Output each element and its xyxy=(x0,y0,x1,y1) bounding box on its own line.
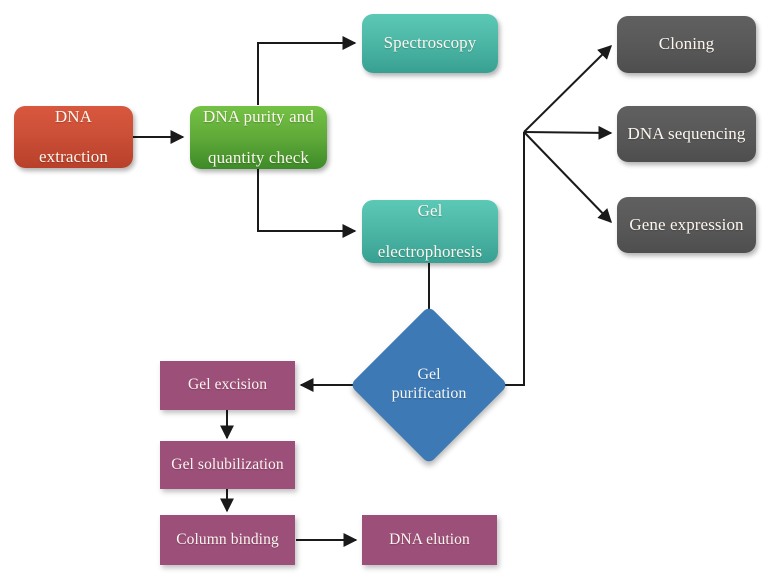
node-purity-check-label: DNA purity andquantity check xyxy=(190,107,327,167)
node-gel-excision[interactable]: Gel excision xyxy=(160,361,295,410)
node-cloning-label: Cloning xyxy=(617,34,756,54)
node-cloning[interactable]: Cloning xyxy=(617,16,756,73)
node-gel-excision-label: Gel excision xyxy=(160,376,295,394)
node-gel-solubilization[interactable]: Gel solubilization xyxy=(160,441,295,489)
node-gene-expression[interactable]: Gene expression xyxy=(617,197,756,253)
node-dna-elution[interactable]: DNA elution xyxy=(362,515,497,565)
node-column-binding[interactable]: Column binding xyxy=(160,515,295,565)
node-dna-elution-label: DNA elution xyxy=(362,531,497,549)
edge-hub-to-sequencing xyxy=(524,132,611,133)
edge-purity-to-electrophoresis xyxy=(258,169,355,231)
node-gel-purification-label: Gelpurification xyxy=(349,329,509,441)
edge-purity-to-spectroscopy xyxy=(258,43,355,105)
node-column-binding-label: Column binding xyxy=(160,531,295,549)
node-gel-solubilization-label: Gel solubilization xyxy=(160,456,295,474)
edge-hub-to-cloning xyxy=(524,46,611,132)
flowchart-canvas: DNAextraction DNA purity andquantity che… xyxy=(0,0,768,580)
node-dna-sequencing-label: DNA sequencing xyxy=(617,124,756,144)
node-dna-extraction[interactable]: DNAextraction xyxy=(14,106,133,168)
node-dna-sequencing[interactable]: DNA sequencing xyxy=(617,106,756,162)
node-gel-electrophoresis-label: Gelelectrophoresis xyxy=(362,201,498,261)
node-gel-purification[interactable]: Gelpurification xyxy=(373,329,485,441)
node-purity-check[interactable]: DNA purity andquantity check xyxy=(190,106,327,169)
node-gene-expression-label: Gene expression xyxy=(617,215,756,235)
edge-hub-to-gene-expression xyxy=(524,132,611,222)
node-spectroscopy[interactable]: Spectroscopy xyxy=(362,14,498,73)
node-gel-electrophoresis[interactable]: Gelelectrophoresis xyxy=(362,200,498,263)
node-dna-extraction-label: DNAextraction xyxy=(14,107,133,167)
node-spectroscopy-label: Spectroscopy xyxy=(362,33,498,53)
flowchart-edges xyxy=(0,0,768,580)
